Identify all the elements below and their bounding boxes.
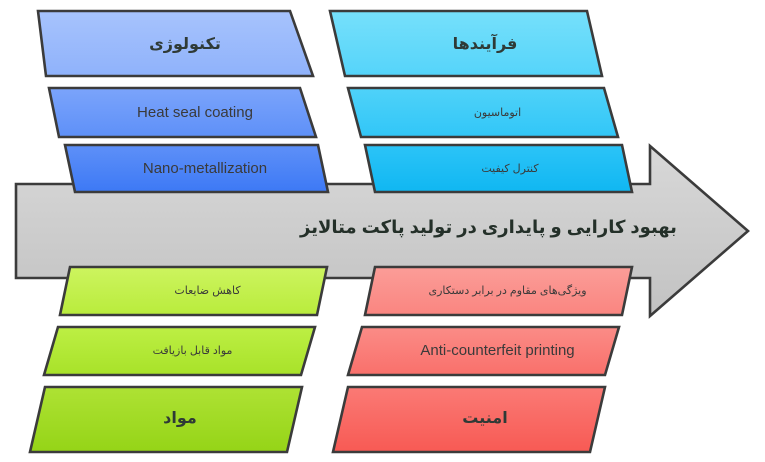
shape-security-1[interactable] bbox=[348, 327, 619, 375]
shape-materials-1[interactable] bbox=[44, 327, 315, 375]
shape-security-2[interactable] bbox=[333, 387, 605, 452]
diagram-canvas: تکنولوژی Heat seal coating Nano-metalliz… bbox=[0, 0, 765, 462]
shape-technology-2[interactable] bbox=[65, 145, 328, 192]
shape-technology-1[interactable] bbox=[49, 88, 316, 137]
shape-technology-0[interactable] bbox=[38, 11, 313, 76]
shape-processes-2[interactable] bbox=[365, 145, 632, 192]
diagram-svg bbox=[0, 0, 765, 462]
shape-processes-1[interactable] bbox=[348, 88, 618, 137]
shape-materials-2[interactable] bbox=[30, 387, 302, 452]
shape-materials-0[interactable] bbox=[60, 267, 327, 315]
shape-security-0[interactable] bbox=[365, 267, 632, 315]
shape-processes-0[interactable] bbox=[330, 11, 602, 76]
